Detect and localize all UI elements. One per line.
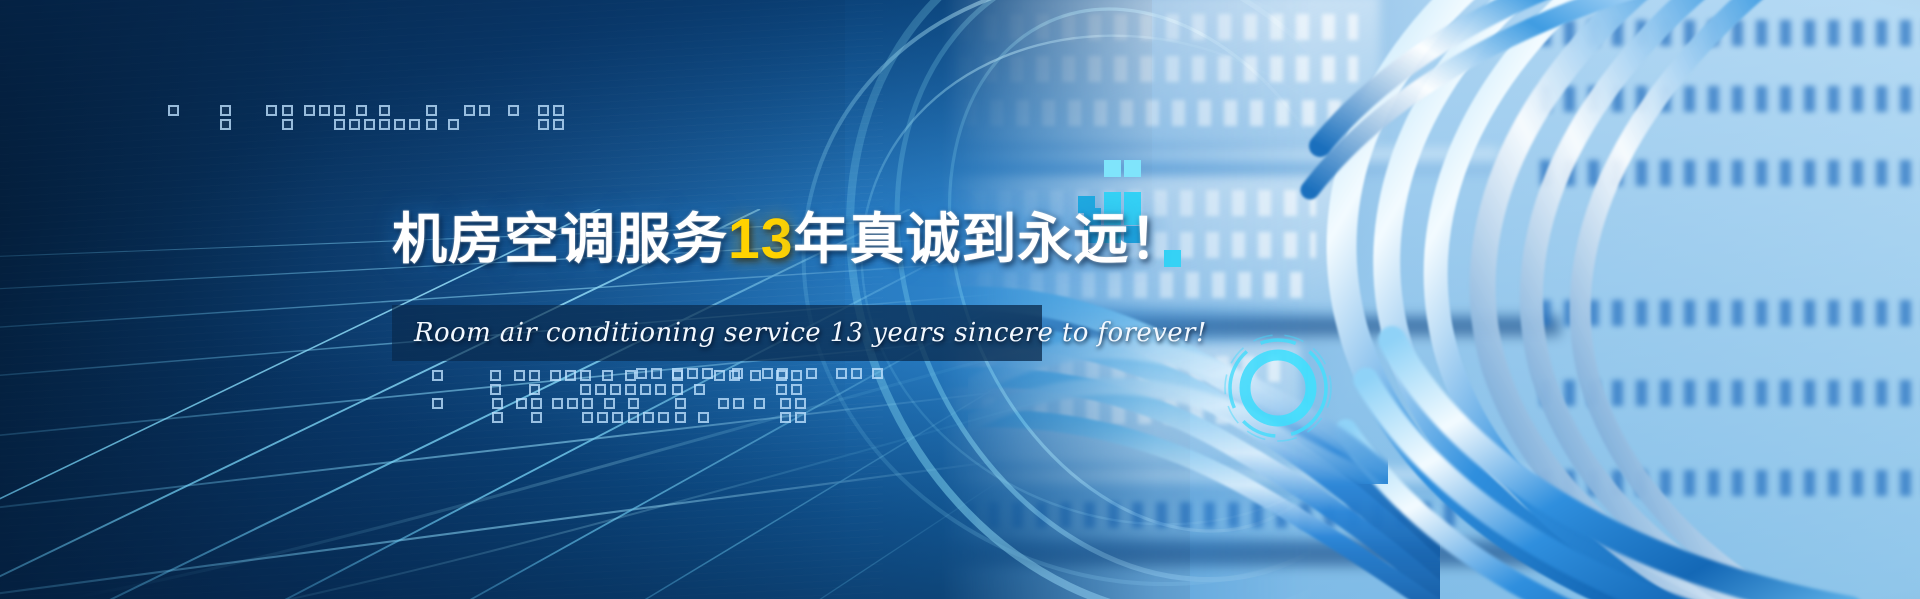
- headline-part-1: 机房空调服务: [392, 207, 728, 271]
- cyan-hud-ring: [1222, 332, 1334, 444]
- hollow-square-pixel-pattern-bottom-2: [432, 398, 902, 434]
- headline-punctuation: ！: [1129, 207, 1184, 271]
- server-rack-network-cables-photo: [940, 0, 1920, 599]
- promo-banner: 机房空调服务13年真诚到永远！ Room air conditioning se…: [0, 0, 1920, 599]
- headline-part-2: 年真诚到永远: [793, 207, 1129, 271]
- subtitle: Room air conditioning service 13 years s…: [414, 305, 1034, 361]
- headline-highlight-number: 13: [728, 207, 793, 271]
- hollow-square-pixel-pattern-top: [168, 104, 568, 136]
- hollow-square-pixel-pattern-bottom-3: [636, 368, 896, 388]
- page-title: 机房空调服务13年真诚到永远！: [392, 208, 1184, 270]
